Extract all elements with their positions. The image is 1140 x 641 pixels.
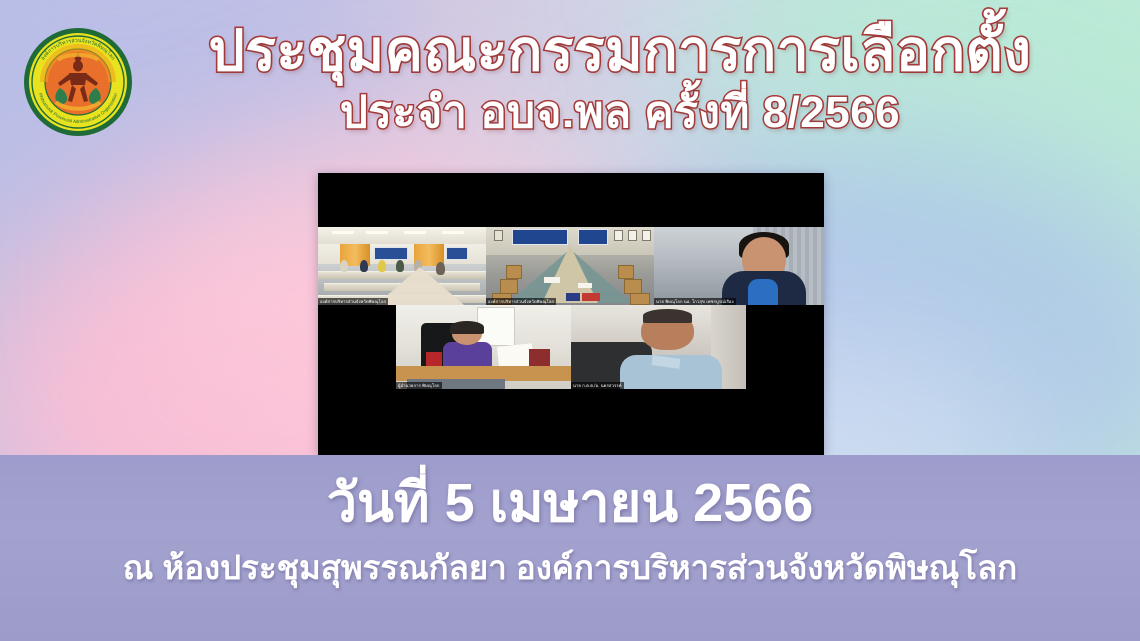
video-tile-room-1[interactable]: องค์การบริหารส่วนจังหวัดพิษณุโลก xyxy=(318,227,486,305)
slide-title-sub: ประจำ อบจ.พล ครั้งที่ 8/2566 xyxy=(140,86,1100,140)
slide-header: องค์การบริหารส่วนจังหวัดพิษณุโลก Phitsan… xyxy=(0,0,1140,175)
organization-seal-icon: องค์การบริหารส่วนจังหวัดพิษณุโลก Phitsan… xyxy=(22,26,134,138)
video-tile-person-1[interactable]: นาย พิษณุโลก นอ. โกวสุข เพชรบูรณ์เรือง xyxy=(654,227,824,305)
event-date-text: วันที่ 5 เมษายน 2566 xyxy=(0,471,1140,535)
slide-title-main: ประชุมคณะกรรมการการเลือกตั้ง xyxy=(140,18,1100,84)
footer-band: วันที่ 5 เมษายน 2566 ณ ห้องประชุมสุพรรณก… xyxy=(0,455,1140,641)
participant-video-scene xyxy=(571,305,746,389)
video-tile-person-3[interactable]: นาย ก.ต.ต./อ. นครสวรรค์ xyxy=(571,305,746,389)
video-tile-room-2[interactable]: องค์การบริหารส่วนจังหวัดพิษณุโลก xyxy=(486,227,654,305)
video-grid-row-bottom: ผู้อำนวยการ พิษณุโลก นาย ก.ต.ต./อ. นครสว… xyxy=(396,305,746,389)
tile-name-label: ผู้อำนวยการ พิษณุโลก xyxy=(396,382,442,389)
meeting-room-scene xyxy=(318,227,486,305)
event-place-text: ณ ห้องประชุมสุพรรณกัลยา องค์การบริหารส่ว… xyxy=(0,547,1140,589)
participant-video-scene xyxy=(396,305,571,389)
presentation-slide: องค์การบริหารส่วนจังหวัดพิษณุโลก Phitsan… xyxy=(0,0,1140,641)
video-conference-panel[interactable]: องค์การบริหารส่วนจังหวัดพิษณุโลก xyxy=(318,173,824,455)
title-block: ประชุมคณะกรรมการการเลือกตั้ง ประจำ อบจ.พ… xyxy=(140,18,1100,140)
participant-video-scene xyxy=(654,227,824,305)
tile-name-label: นาย พิษณุโลก นอ. โกวสุข เพชรบูรณ์เรือง xyxy=(654,298,736,305)
tile-name-label: นาย ก.ต.ต./อ. นครสวรรค์ xyxy=(571,382,624,389)
video-grid-row-top: องค์การบริหารส่วนจังหวัดพิษณุโลก xyxy=(318,227,824,305)
tile-name-label: องค์การบริหารส่วนจังหวัดพิษณุโลก xyxy=(486,298,556,305)
video-tile-person-2[interactable]: ผู้อำนวยการ พิษณุโลก xyxy=(396,305,571,389)
meeting-room-scene xyxy=(486,227,654,305)
tile-name-label: องค์การบริหารส่วนจังหวัดพิษณุโลก xyxy=(318,298,388,305)
